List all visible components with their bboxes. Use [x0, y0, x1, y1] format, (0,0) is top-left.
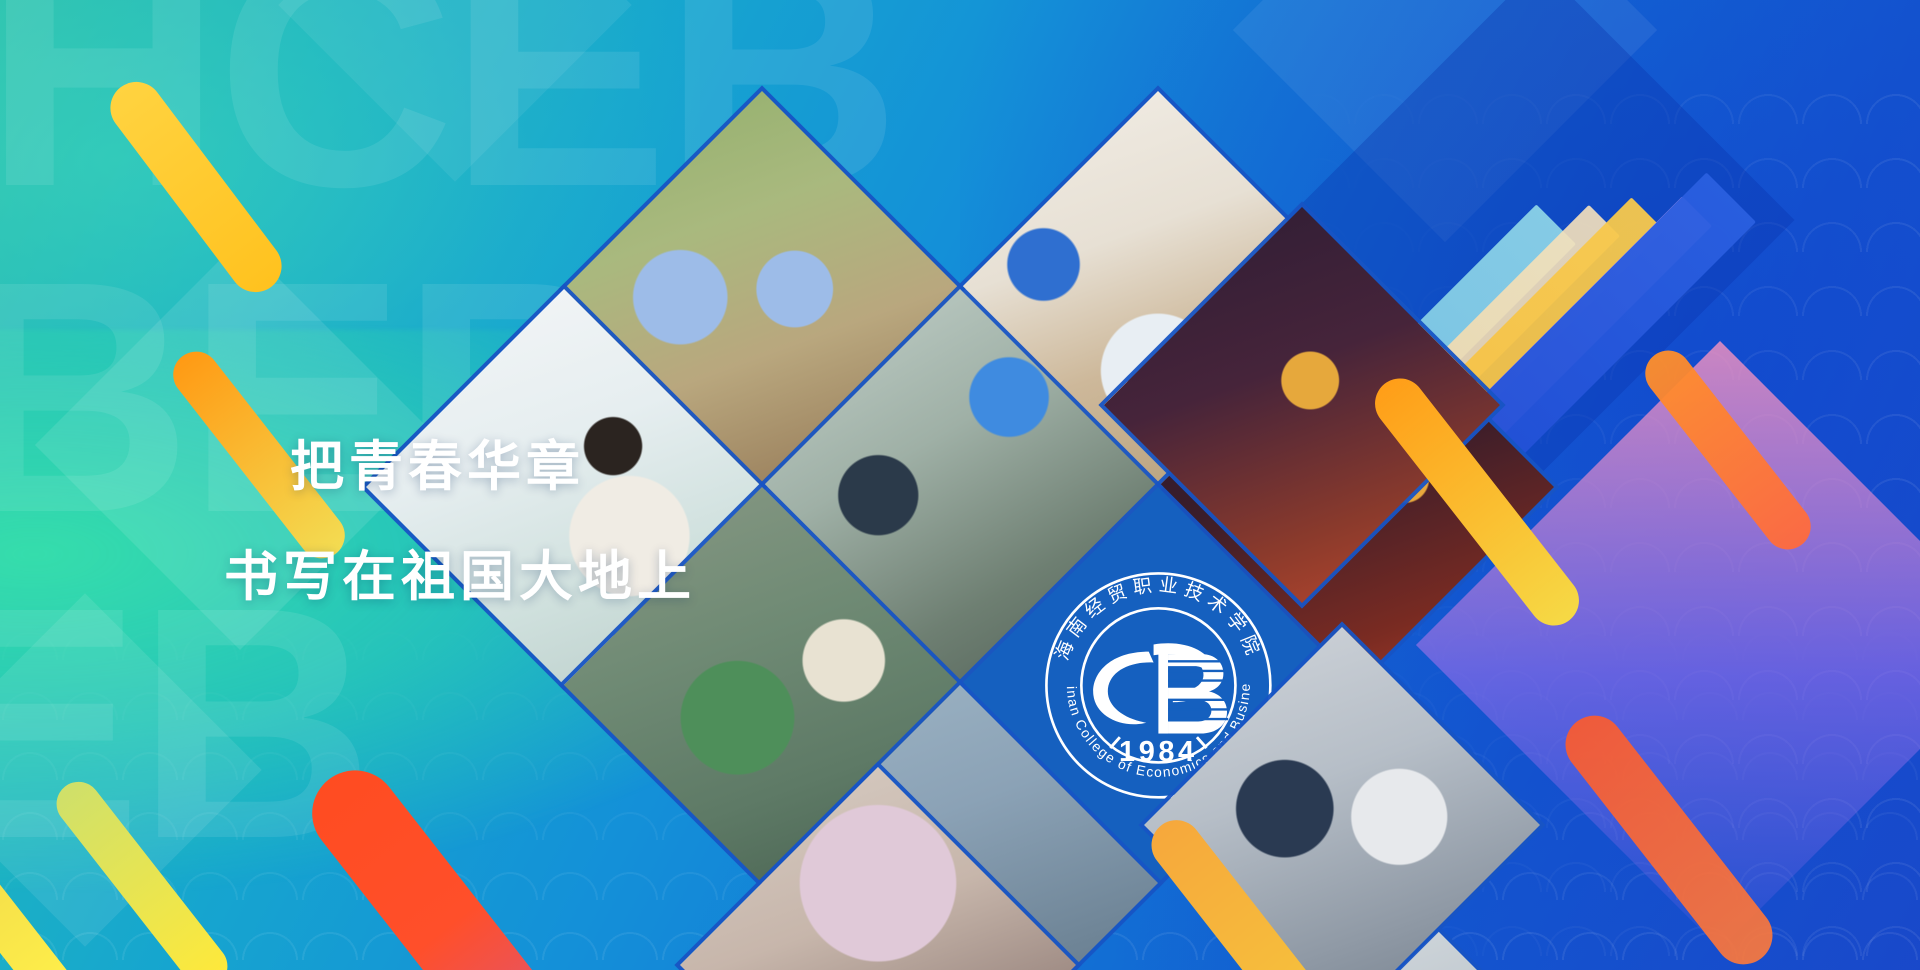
campus-banner: HCEB BEB EB	[0, 0, 1920, 970]
headline-line-1: 把青春华章	[290, 440, 888, 494]
headline-block: 把青春华章 书写在祖国大地上	[268, 440, 888, 604]
photo-tile-heritage-banner	[680, 767, 1076, 970]
headline-line-2: 书写在祖国大地上	[224, 550, 888, 604]
photo-heritage-banner	[680, 767, 1076, 970]
